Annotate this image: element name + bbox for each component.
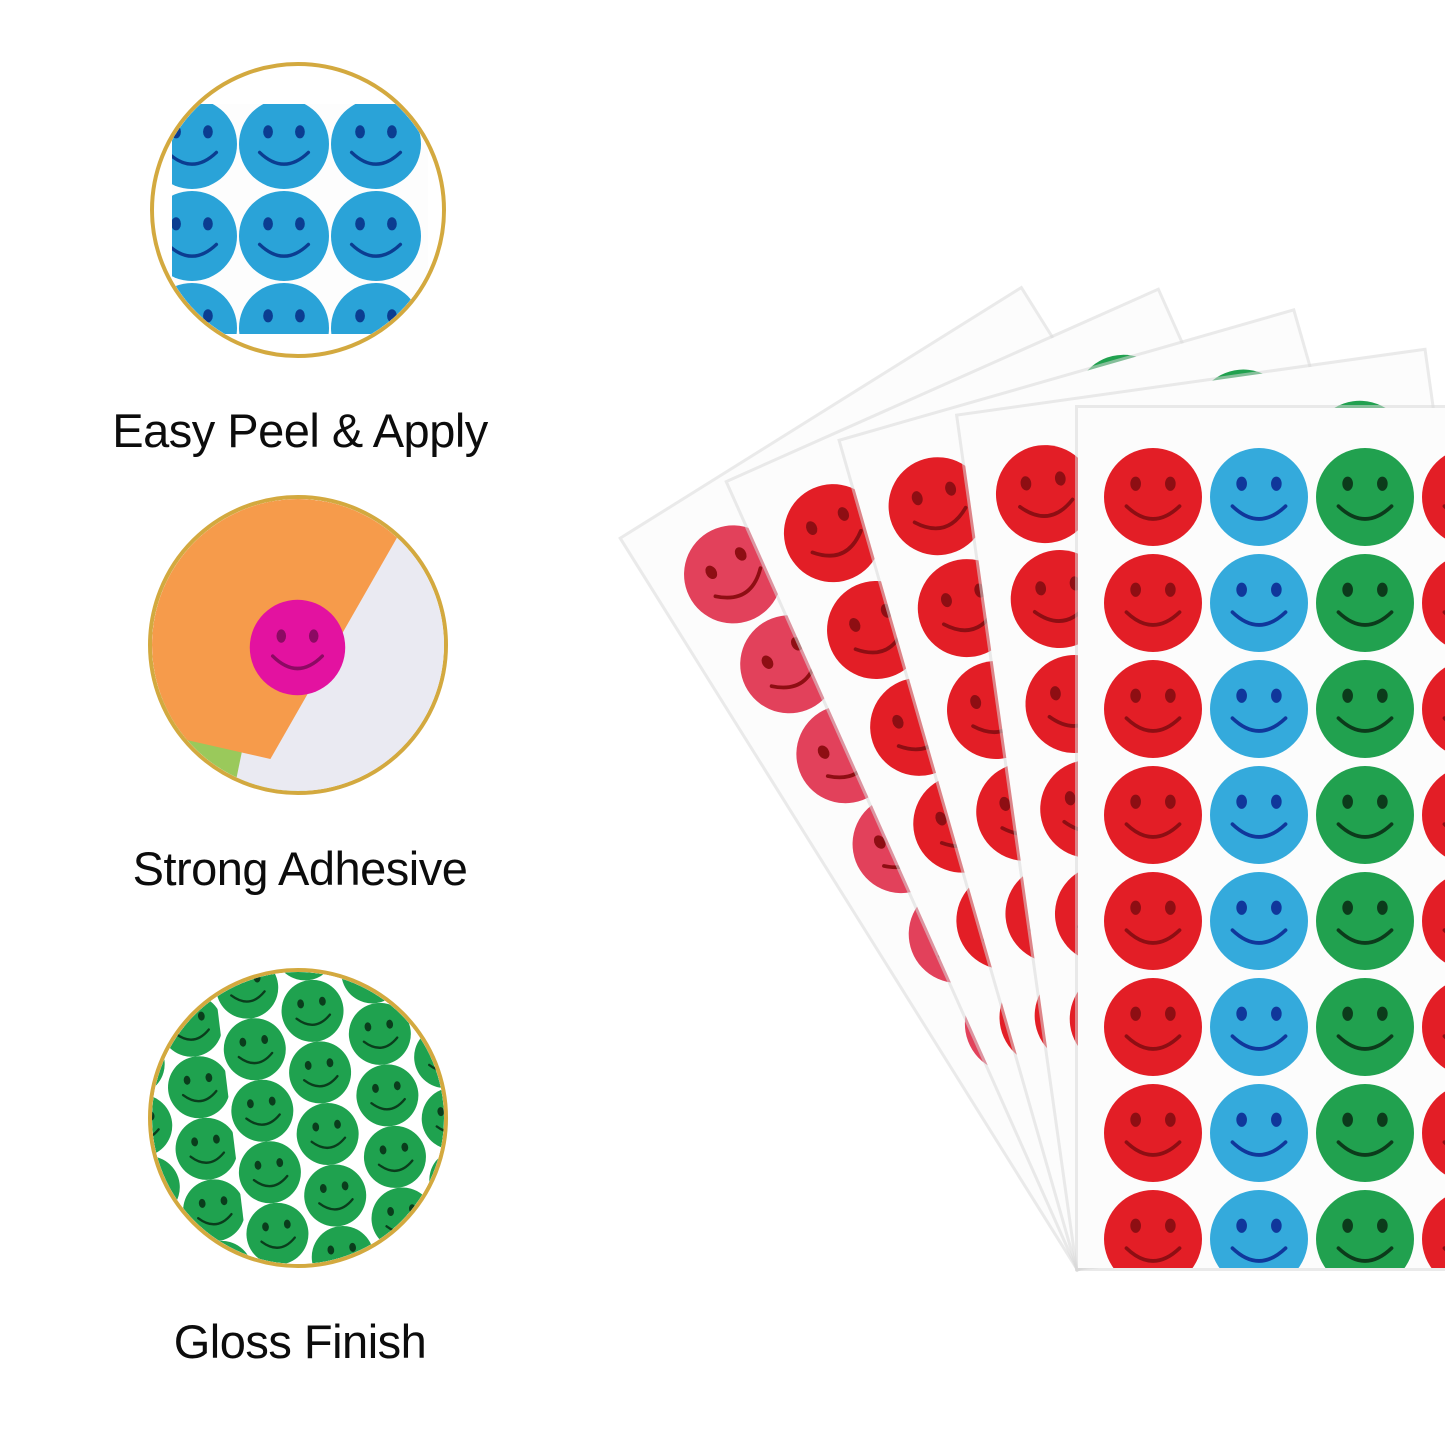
gold-ring-border	[148, 968, 448, 1268]
feature-gloss-finish: Gloss Finish	[0, 968, 600, 1369]
feature-strong-adhesive: Strong Adhesive	[0, 495, 600, 896]
feature-caption-easy-peel: Easy Peel & Apply	[0, 403, 600, 458]
feature-thumbnail-strong-adhesive	[148, 495, 448, 795]
front-sheet	[1075, 405, 1445, 1288]
gold-ring-border	[148, 495, 448, 795]
blue-sticker-sheet-image	[172, 104, 428, 334]
infographic-canvas: Easy Peel & Apply	[0, 0, 1445, 1445]
feature-caption-strong-adhesive: Strong Adhesive	[0, 841, 600, 896]
feature-caption-gloss-finish: Gloss Finish	[0, 1314, 600, 1369]
pink-smiley-sticker	[245, 595, 350, 700]
feature-thumbnail-gloss-finish	[148, 968, 448, 1268]
feature-list: Easy Peel & Apply	[0, 0, 600, 1445]
feature-easy-peel: Easy Peel & Apply	[0, 62, 600, 458]
gold-ring-border	[150, 62, 446, 358]
green-smiley-sheets	[152, 972, 444, 1264]
feature-thumbnail-easy-peel	[150, 62, 446, 358]
blue-smiley-grid	[172, 104, 428, 334]
